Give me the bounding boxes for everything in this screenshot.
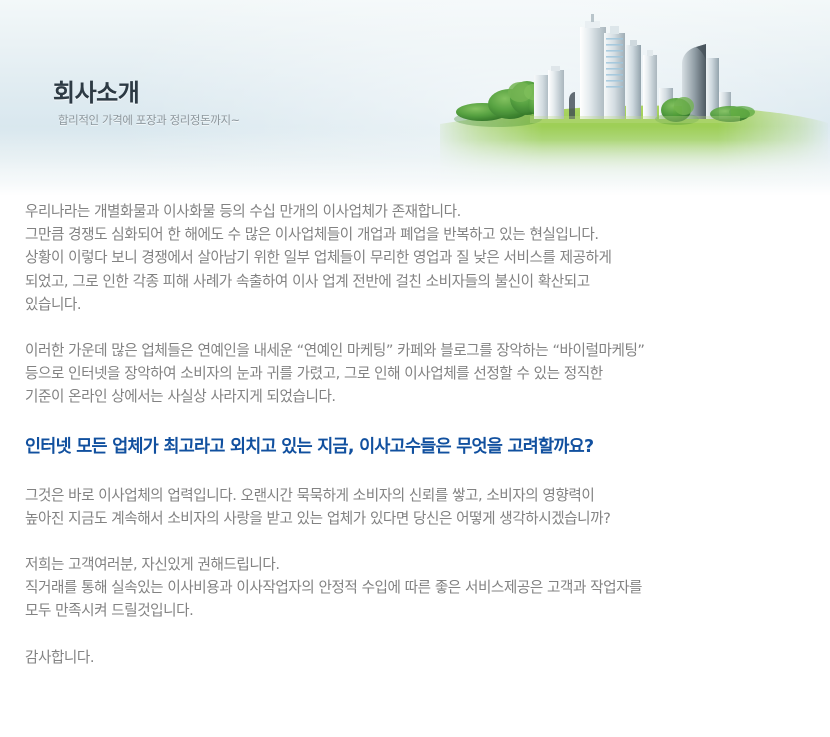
banner-text-block: 회사소개 합리적인 가격에 포장과 정리정돈까지~: [53, 80, 473, 127]
grass-hill: [430, 106, 830, 196]
tree-right: [655, 97, 699, 125]
paragraph-marketing-problem: 이러한 가운데 많은 업체들은 연예인을 내세운 “연예인 마케팅” 카페와 블…: [25, 339, 815, 409]
page-subtitle: 합리적인 가격에 포장과 정리정돈까지~: [58, 114, 473, 127]
city-skyline-illustration: [430, 0, 830, 196]
page-banner: 회사소개 합리적인 가격에 포장과 정리정돈까지~: [0, 0, 830, 196]
content-body: 우리나라는 개별화물과 이사화물 등의 수십 만개의 이사업체가 존재합니다. …: [25, 200, 815, 669]
banner-bottom-fade: [0, 126, 830, 196]
paragraph-recommendation: 저희는 고객여러분, 자신있게 권해드립니다. 직거래를 통해 실속있는 이사비…: [25, 553, 815, 623]
section-headline: 인터넷 모든 업체가 최고라고 외치고 있는 지금, 이사고수들은 무엇을 고려…: [25, 435, 815, 459]
bush-far-right: [710, 106, 755, 122]
closing-thanks: 감사합니다.: [25, 646, 815, 669]
company-introduction-page: 회사소개 합리적인 가격에 포장과 정리정돈까지~ 우리나라는 개별화물과 이사…: [0, 0, 830, 737]
paragraph-experience-answer: 그것은 바로 이사업체의 업력입니다. 오랜시간 묵묵하게 소비자의 신뢰를 쌓…: [25, 484, 815, 530]
page-title: 회사소개: [53, 80, 473, 106]
paragraph-industry-overview: 우리나라는 개별화물과 이사화물 등의 수십 만개의 이사업체가 존재합니다. …: [25, 200, 815, 316]
skyline-buildings: [534, 14, 731, 119]
